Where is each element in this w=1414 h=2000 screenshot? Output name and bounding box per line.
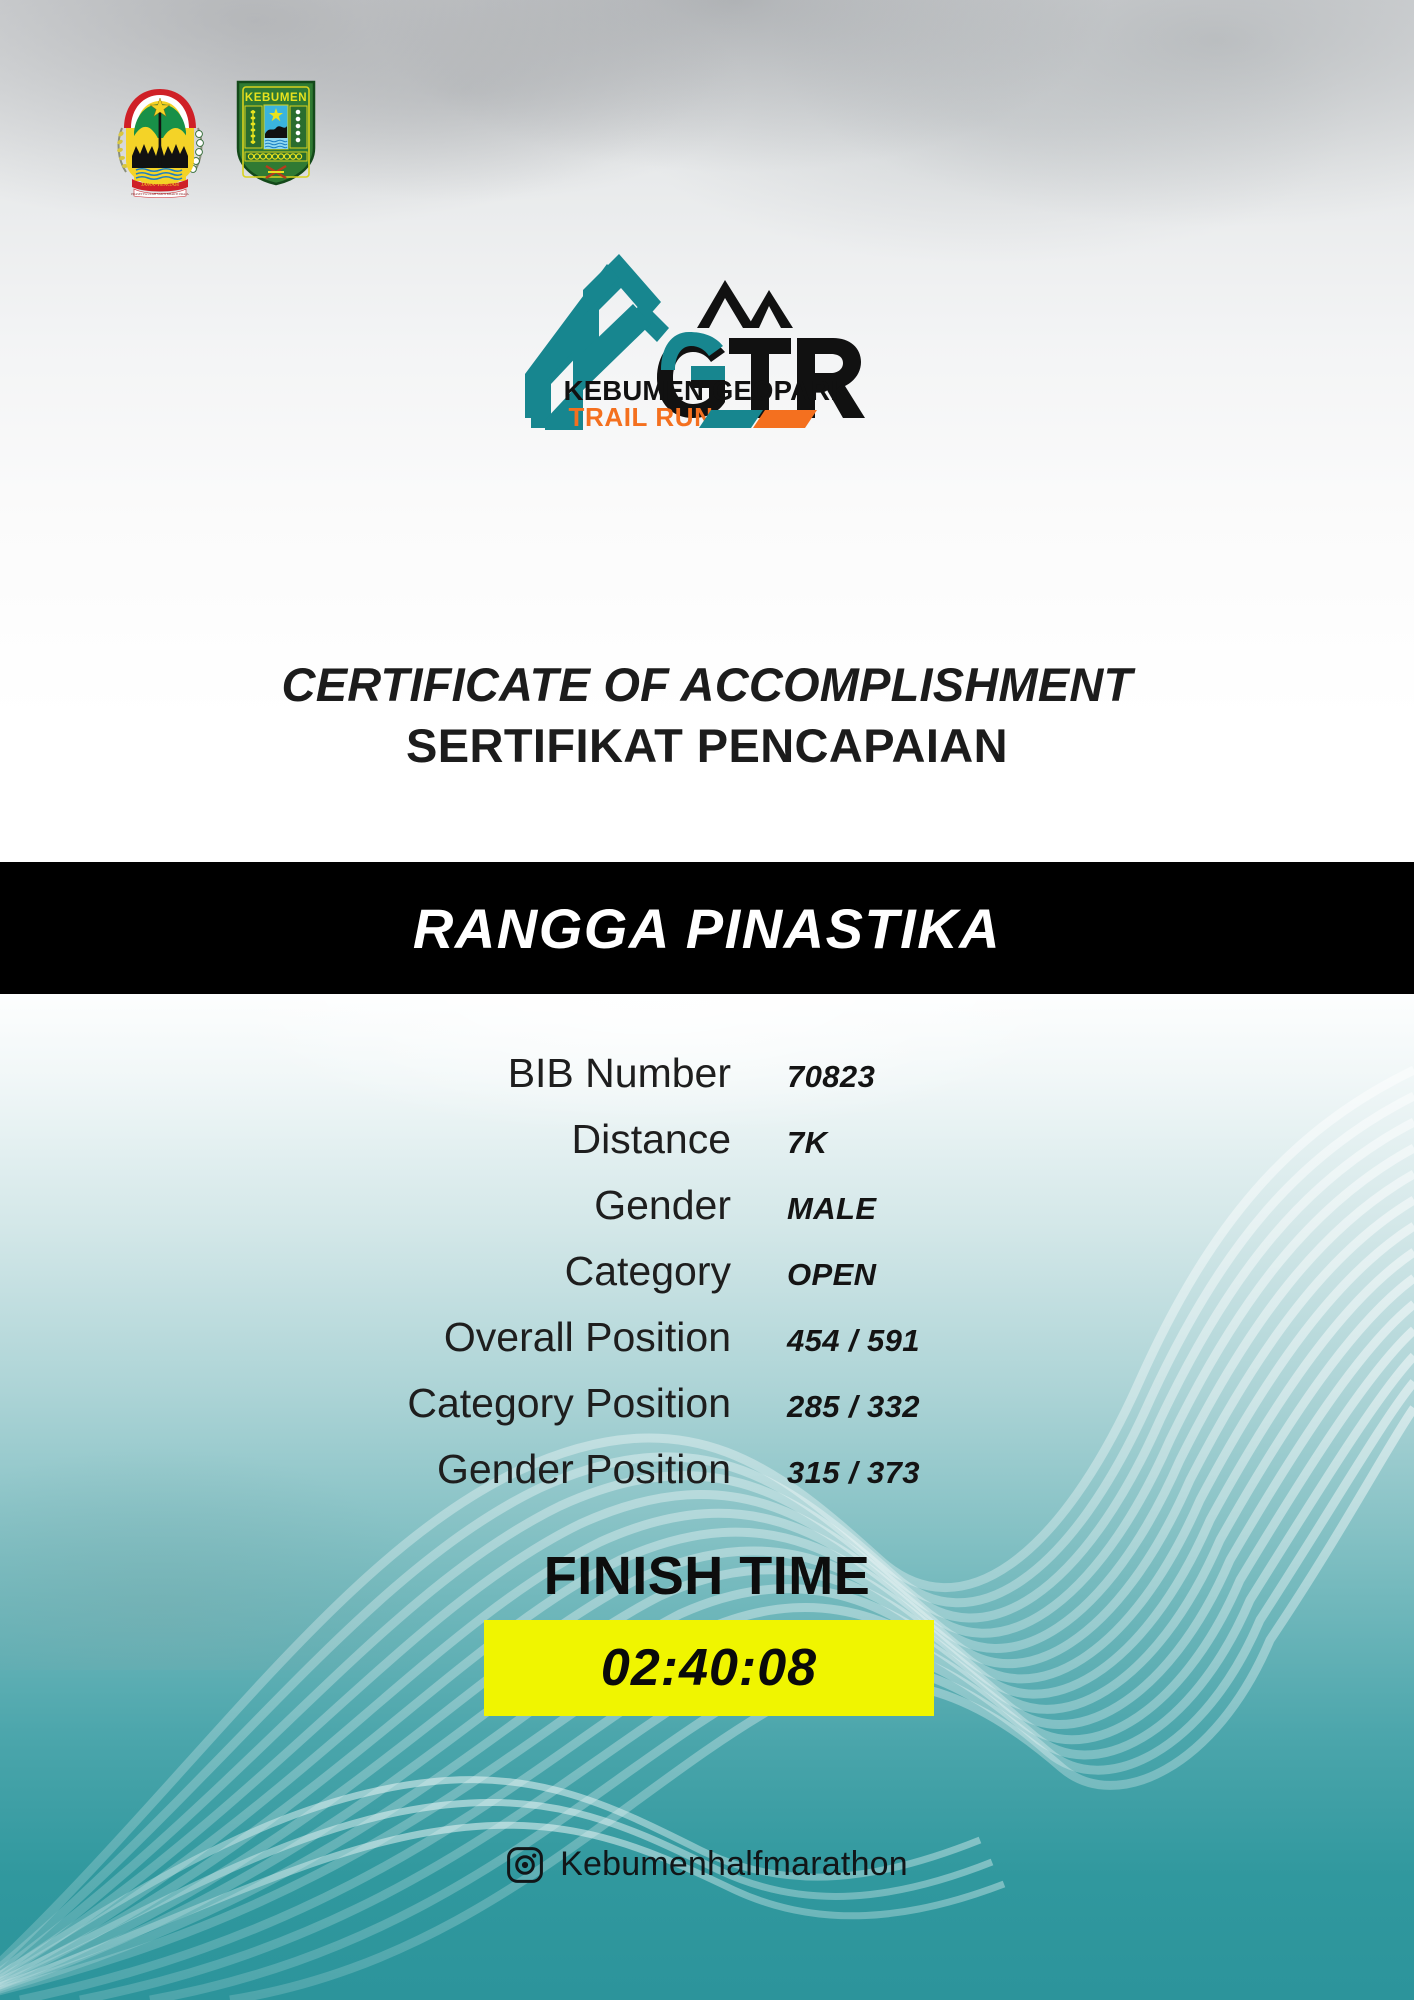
finish-time-label: FINISH TIME <box>0 1545 1414 1607</box>
title-indonesian: SERTIFIKAT PENCAPAIAN <box>0 719 1414 774</box>
detail-value-category-position: 285 / 332 <box>787 1389 1047 1425</box>
social-footer[interactable]: Kebumenhalfmarathon <box>0 1845 1414 1884</box>
detail-label-category: Category <box>367 1248 787 1295</box>
jateng-caption: JAWA-TENGAH <box>141 182 179 188</box>
instagram-icon[interactable] <box>506 1846 544 1884</box>
detail-label-distance: Distance <box>367 1116 787 1163</box>
table-row: Distance 7K <box>367 1116 1047 1182</box>
detail-label-overall-position: Overall Position <box>367 1314 787 1361</box>
table-row: Gender Position 315 / 373 <box>367 1446 1047 1512</box>
table-row: Category Position 285 / 332 <box>367 1380 1047 1446</box>
jateng-motto: PRASETYA ULAH SAKTI BHAKTI PRAJA <box>131 192 189 196</box>
table-row: Category OPEN <box>367 1248 1047 1314</box>
title-english: CERTIFICATE OF ACCOMPLISHMENT <box>0 658 1414 713</box>
finish-time-highlight: 02:40:08 <box>484 1620 934 1716</box>
certificate-page: JAWA-TENGAH PRASETYA ULAH SAKTI BHAKTI P… <box>0 0 1414 2000</box>
kebumen-caption: KEBUMEN <box>245 92 307 104</box>
jawa-tengah-emblem: JAWA-TENGAH PRASETYA ULAH SAKTI BHAKTI P… <box>110 76 210 198</box>
kgtr-logo: KEBUMEN GEOPARK TRAIL RUN <box>511 232 903 430</box>
table-row: BIB Number 70823 <box>367 1050 1047 1116</box>
result-details-table: BIB Number 70823 Distance 7K Gender MALE… <box>0 1050 1414 1512</box>
detail-label-category-position: Category Position <box>367 1380 787 1427</box>
detail-value-distance: 7K <box>787 1125 1047 1161</box>
detail-value-bib-number: 70823 <box>787 1059 1047 1095</box>
detail-value-gender-position: 315 / 373 <box>787 1455 1047 1491</box>
detail-value-gender: MALE <box>787 1191 1047 1227</box>
kebumen-emblem: KEBUMEN <box>232 76 320 188</box>
athlete-name: RANGGA PINASTIKA <box>413 896 1001 961</box>
event-logo: KEBUMEN GEOPARK TRAIL RUN <box>0 232 1414 430</box>
detail-label-bib-number: BIB Number <box>367 1050 787 1097</box>
table-row: Gender MALE <box>367 1182 1047 1248</box>
detail-value-category: OPEN <box>787 1257 1047 1293</box>
table-row: Overall Position 454 / 591 <box>367 1314 1047 1380</box>
certificate-titles: CERTIFICATE OF ACCOMPLISHMENT SERTIFIKAT… <box>0 658 1414 773</box>
detail-label-gender-position: Gender Position <box>367 1446 787 1493</box>
detail-label-gender: Gender <box>367 1182 787 1229</box>
government-emblems: JAWA-TENGAH PRASETYA ULAH SAKTI BHAKTI P… <box>110 76 320 198</box>
athlete-name-banner: RANGGA PINASTIKA <box>0 862 1414 994</box>
instagram-handle[interactable]: Kebumenhalfmarathon <box>560 1845 908 1884</box>
detail-value-overall-position: 454 / 591 <box>787 1323 1047 1359</box>
logo-line-2: TRAIL RUN <box>568 402 713 430</box>
finish-time-value: 02:40:08 <box>601 1638 817 1698</box>
